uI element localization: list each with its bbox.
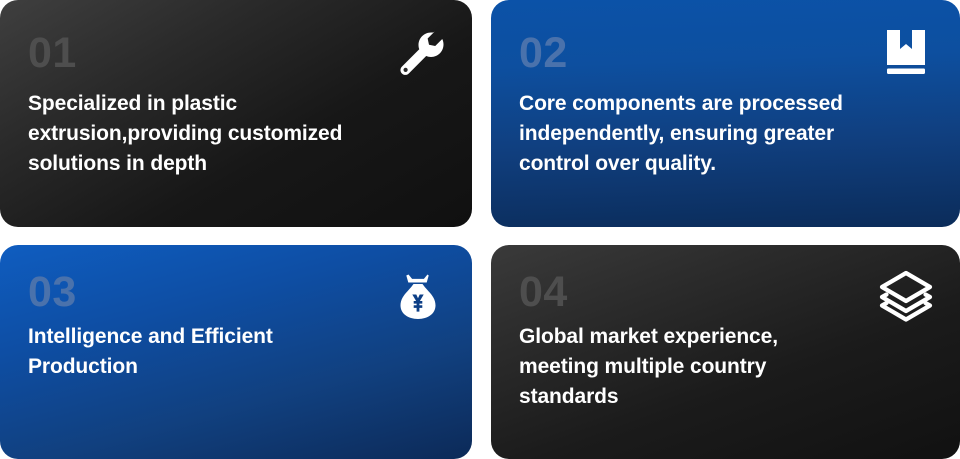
card-text-02: Core components are processed independen… (519, 89, 934, 178)
feature-card-03[interactable]: 03 Intelligence and Efficient Production (0, 245, 472, 459)
money-bag-yen-icon (390, 269, 446, 325)
card-number-04: 04 (519, 271, 934, 314)
card-text-03: Intelligence and Efficient Production (28, 322, 446, 382)
card-number-01: 01 (28, 32, 446, 75)
layers-stack-icon (878, 269, 934, 325)
card-number-03: 03 (28, 271, 446, 314)
card-number-02: 02 (519, 32, 934, 75)
card-text-04: Global market experience, meeting multip… (519, 322, 919, 411)
feature-card-04[interactable]: 04 Global market experience, meeting mul… (491, 245, 960, 459)
feature-card-02[interactable]: 02 Core components are processed indepen… (491, 0, 960, 227)
wrench-icon (390, 24, 446, 80)
card-text-01: Specialized in plastic extrusion,providi… (28, 89, 446, 178)
feature-card-01[interactable]: 01 Specialized in plastic extrusion,prov… (0, 0, 472, 227)
book-bookmark-icon (878, 24, 934, 80)
feature-card-grid: 01 Specialized in plastic extrusion,prov… (0, 0, 960, 459)
